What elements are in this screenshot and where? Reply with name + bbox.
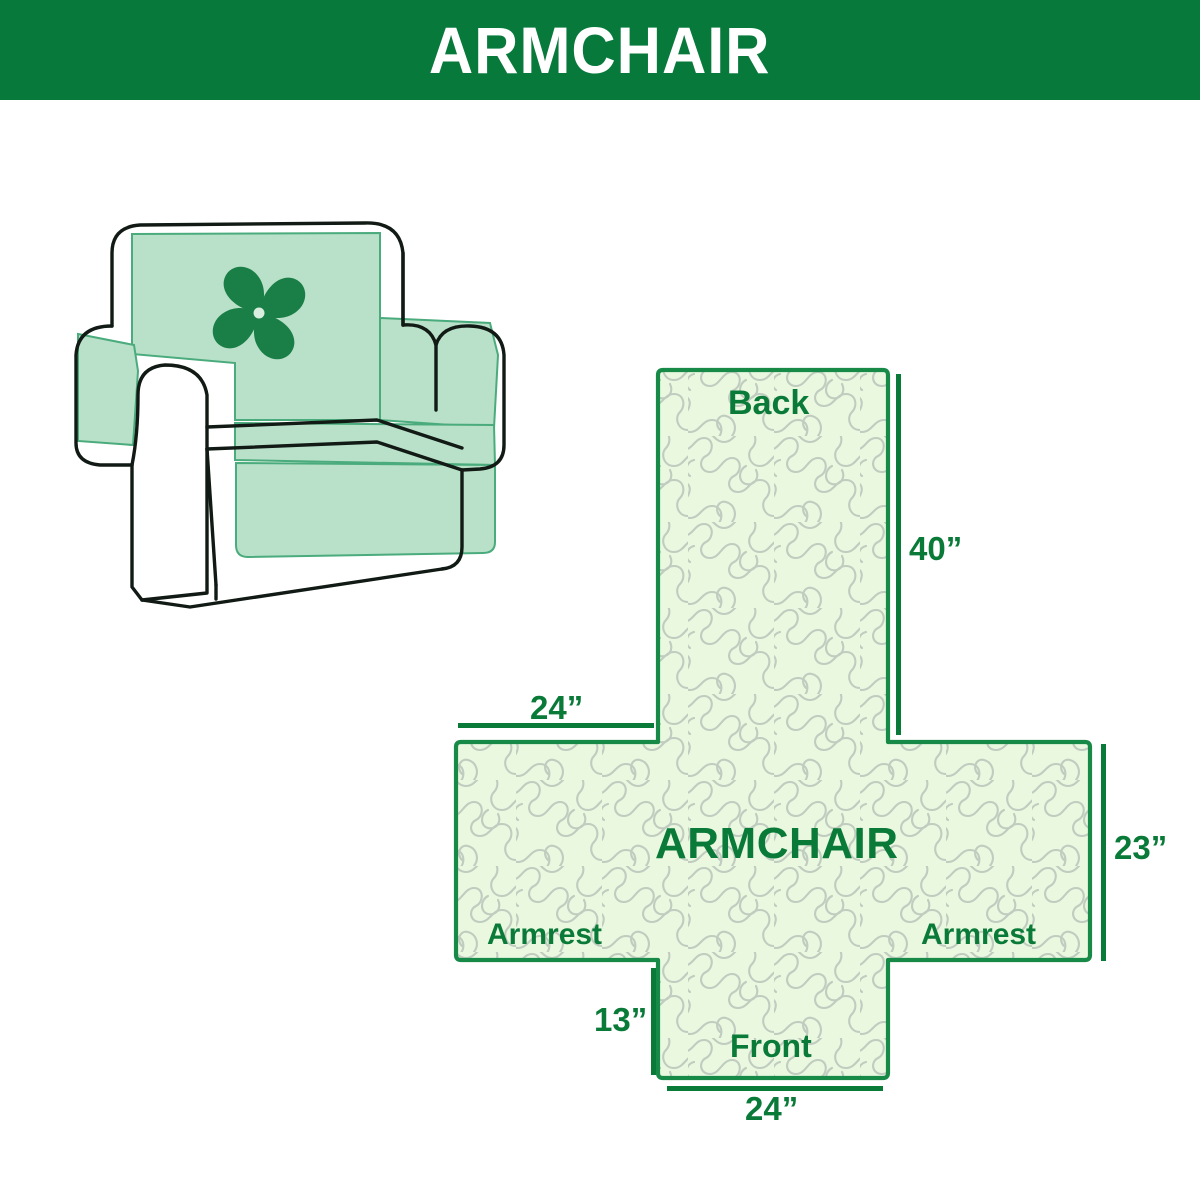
dimension-line-back-length xyxy=(896,374,901,735)
dimension-line-front-drop xyxy=(651,968,656,1075)
panel-label-front: Front xyxy=(730,1030,812,1062)
dimension-label-armrest-depth: 23” xyxy=(1114,831,1167,864)
slipcover-pattern-shape xyxy=(430,350,1200,1140)
dimension-label-front-drop: 13” xyxy=(594,1003,647,1036)
panel-label-back: Back xyxy=(728,386,809,420)
dimension-label-back-width: 24” xyxy=(530,691,583,724)
panel-label-armrest-left: Armrest xyxy=(487,920,602,950)
pinwheel-fan-icon xyxy=(213,267,306,360)
dimension-label-back-length: 40” xyxy=(909,532,962,565)
dimension-line-armrest-depth xyxy=(1101,744,1106,961)
dimension-label-front-width: 24” xyxy=(745,1092,798,1125)
panel-label-center: ARMCHAIR xyxy=(655,822,899,866)
diagram-page: ARMCHAIR xyxy=(0,0,1200,1200)
panel-label-armrest-right: Armrest xyxy=(921,920,1036,950)
header-bar: ARMCHAIR xyxy=(0,0,1200,100)
page-title: ARMCHAIR xyxy=(429,17,771,83)
